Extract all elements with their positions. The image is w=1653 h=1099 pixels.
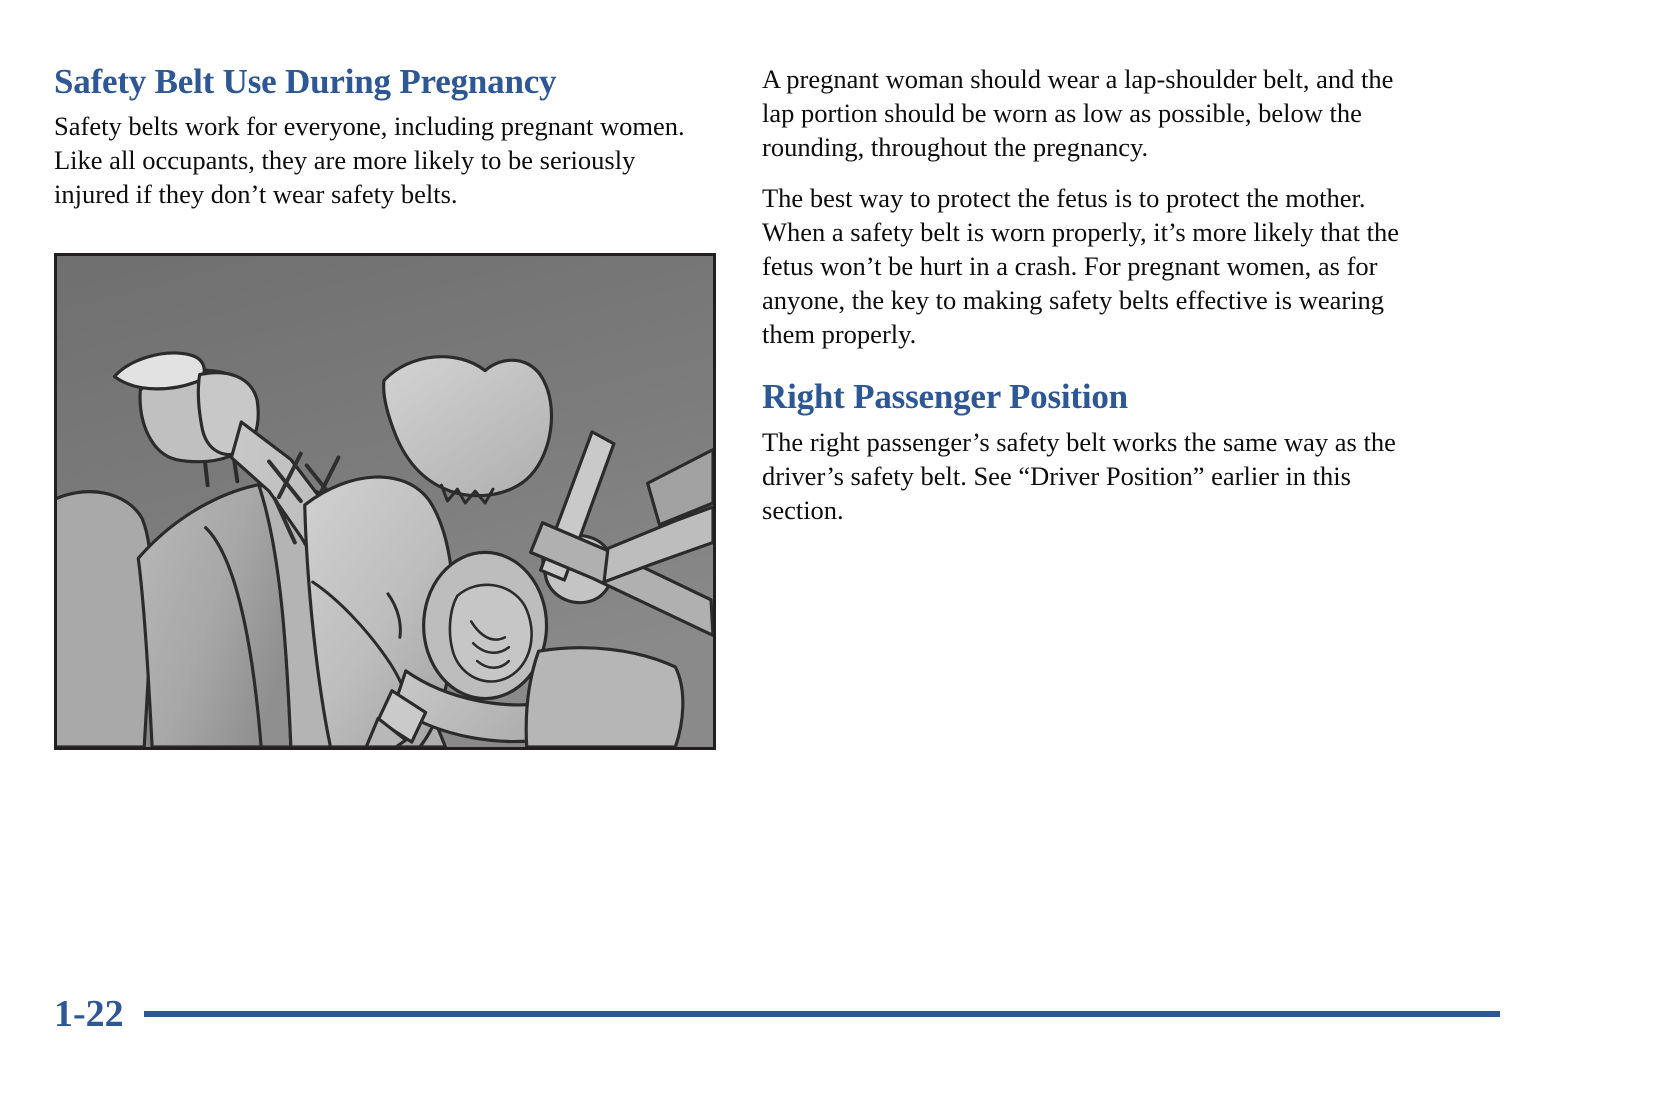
manual-page: Safety Belt Use During Pregnancy Safety … [0, 0, 1653, 1099]
rear-seat-cushion [57, 492, 151, 747]
right-column-paragraph-1: A pregnant woman should wear a lap-shoul… [762, 62, 1424, 164]
page-title: Safety Belt Use During Pregnancy [54, 62, 716, 101]
right-column-paragraph-2: The best way to protect the fetus is to … [762, 181, 1424, 351]
illustration-artwork [57, 256, 713, 747]
page-number: 1-22 [54, 995, 124, 1033]
right-column: A pregnant woman should wear a lap-shoul… [762, 62, 1424, 527]
page-footer: 1-22 [54, 991, 1500, 1037]
pregnancy-safety-belt-illustration [54, 253, 716, 750]
occupant-thigh [526, 648, 683, 747]
right-column-paragraph-3: The right passenger’s safety belt works … [762, 425, 1424, 527]
left-column: Safety Belt Use During Pregnancy Safety … [54, 62, 716, 211]
right-passenger-position-heading: Right Passenger Position [762, 377, 1424, 416]
left-column-paragraph-1: Safety belts work for everyone, includin… [54, 109, 716, 211]
footer-divider [144, 1011, 1500, 1017]
